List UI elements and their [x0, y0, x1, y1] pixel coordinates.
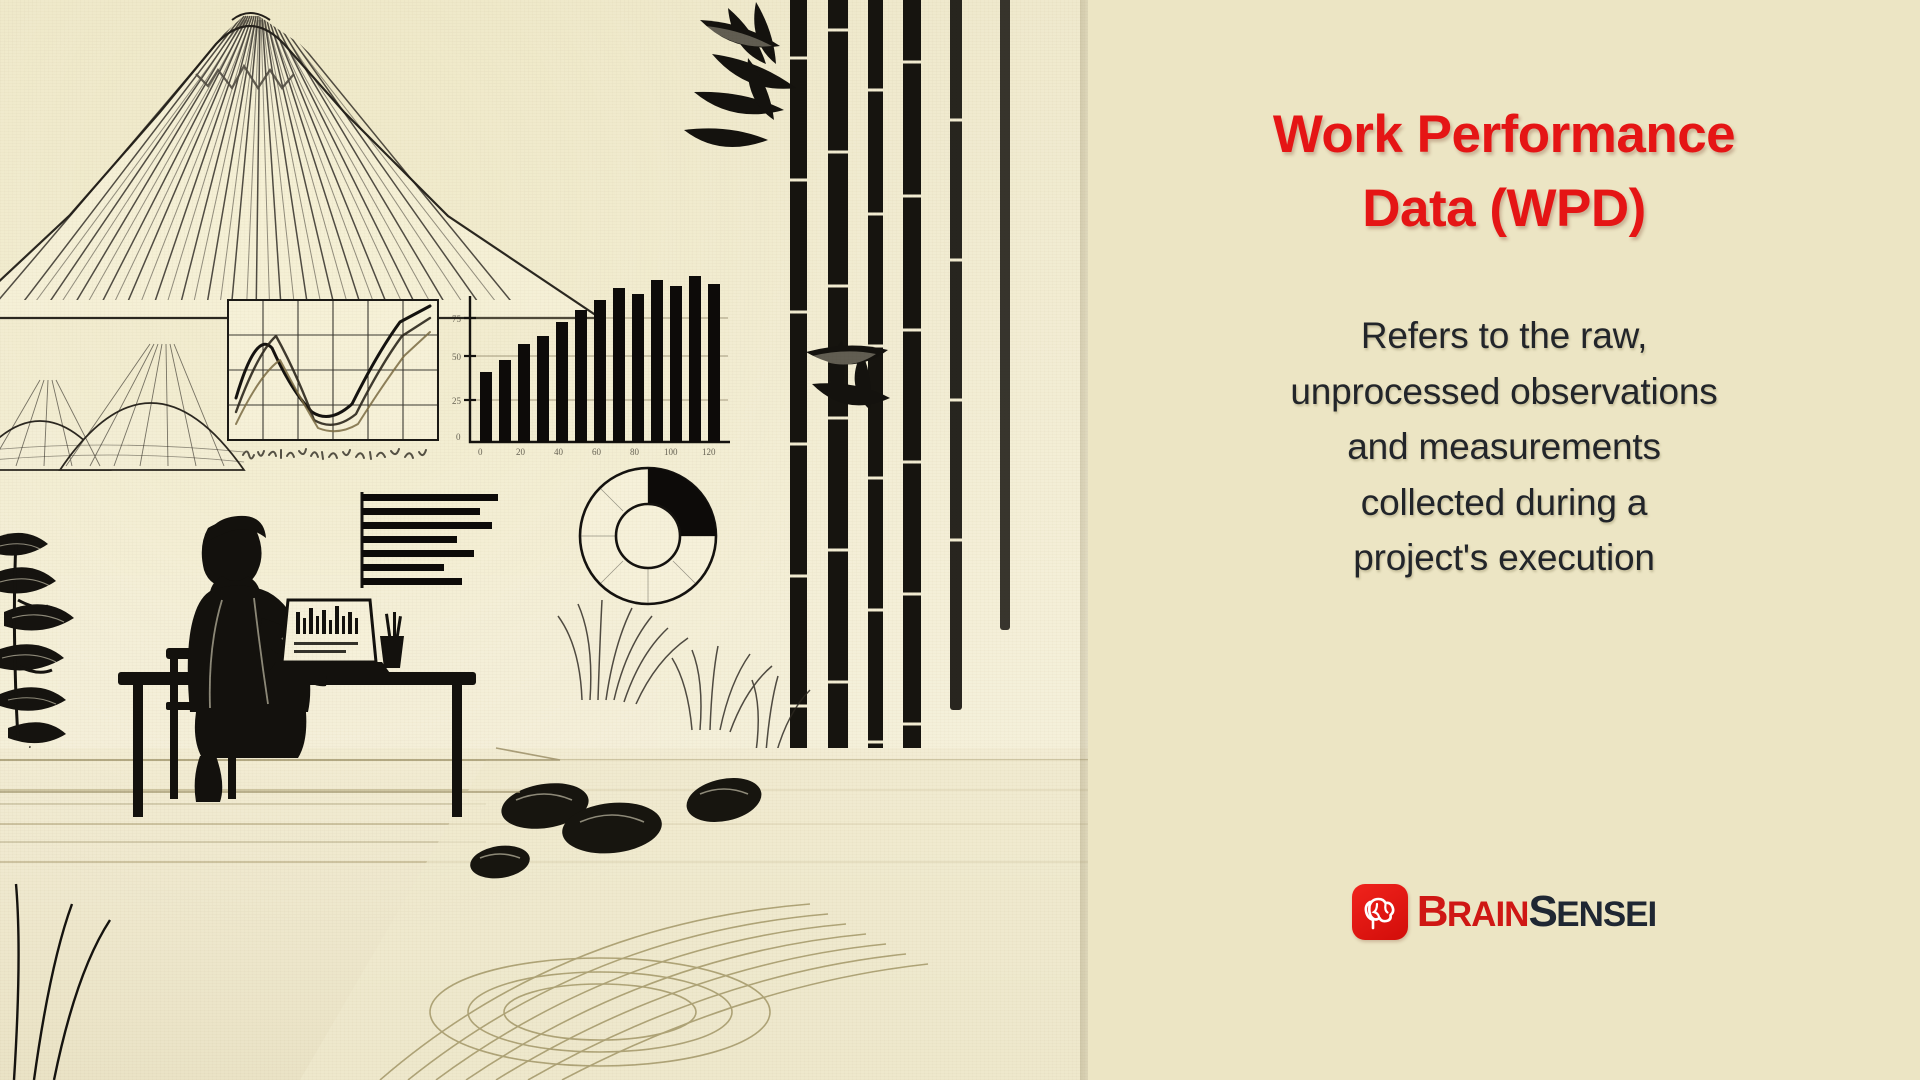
svg-text:60: 60	[592, 447, 602, 457]
logo-brain-cap: B	[1417, 887, 1447, 936]
svg-text:0: 0	[478, 447, 483, 457]
svg-text:75: 75	[452, 314, 462, 324]
svg-text:0: 0	[456, 432, 461, 442]
page-title-line-2: Data (WPD)	[1362, 179, 1646, 238]
content-panel: Work Performance Data (WPD) Refers to th…	[1088, 0, 1920, 1080]
definition-line-4: collected during a	[1361, 482, 1647, 523]
svg-text:100: 100	[664, 447, 678, 457]
brainsensei-wordmark: BRAINSENSEI	[1417, 890, 1657, 934]
definition-line-1: Refers to the raw,	[1361, 315, 1647, 356]
page-title: Work Performance Data (WPD)	[1194, 98, 1814, 246]
svg-text:25: 25	[452, 396, 462, 406]
wall-donut-chart-icon	[580, 468, 716, 604]
brain-icon	[1352, 884, 1408, 940]
svg-text:80: 80	[630, 447, 640, 457]
svg-text:40: 40	[554, 447, 564, 457]
brand-logo-wrap: BRAINSENSEI	[1088, 884, 1920, 940]
svg-text:120: 120	[702, 447, 716, 457]
wall-line-chart-icon	[228, 300, 438, 459]
slide-root: 020 4060 80100 120 7550 250	[0, 0, 1920, 1080]
definition-text: Refers to the raw, unprocessed observati…	[1204, 308, 1804, 586]
illustration-panel: 020 4060 80100 120 7550 250	[0, 0, 1088, 1080]
definition-line-2: unprocessed observations	[1290, 371, 1717, 412]
logo-brain-rest: RAIN	[1447, 895, 1529, 934]
svg-text:50: 50	[452, 352, 462, 362]
brainsensei-logo[interactable]: BRAINSENSEI	[1352, 884, 1657, 940]
definition-line-3: and measurements	[1347, 426, 1661, 467]
svg-text:20: 20	[516, 447, 526, 457]
logo-sensei-rest: ENSEI	[1556, 895, 1656, 934]
page-title-line-1: Work Performance	[1273, 105, 1735, 164]
logo-sensei-cap: S	[1528, 887, 1556, 936]
definition-line-5: project's execution	[1353, 537, 1655, 578]
